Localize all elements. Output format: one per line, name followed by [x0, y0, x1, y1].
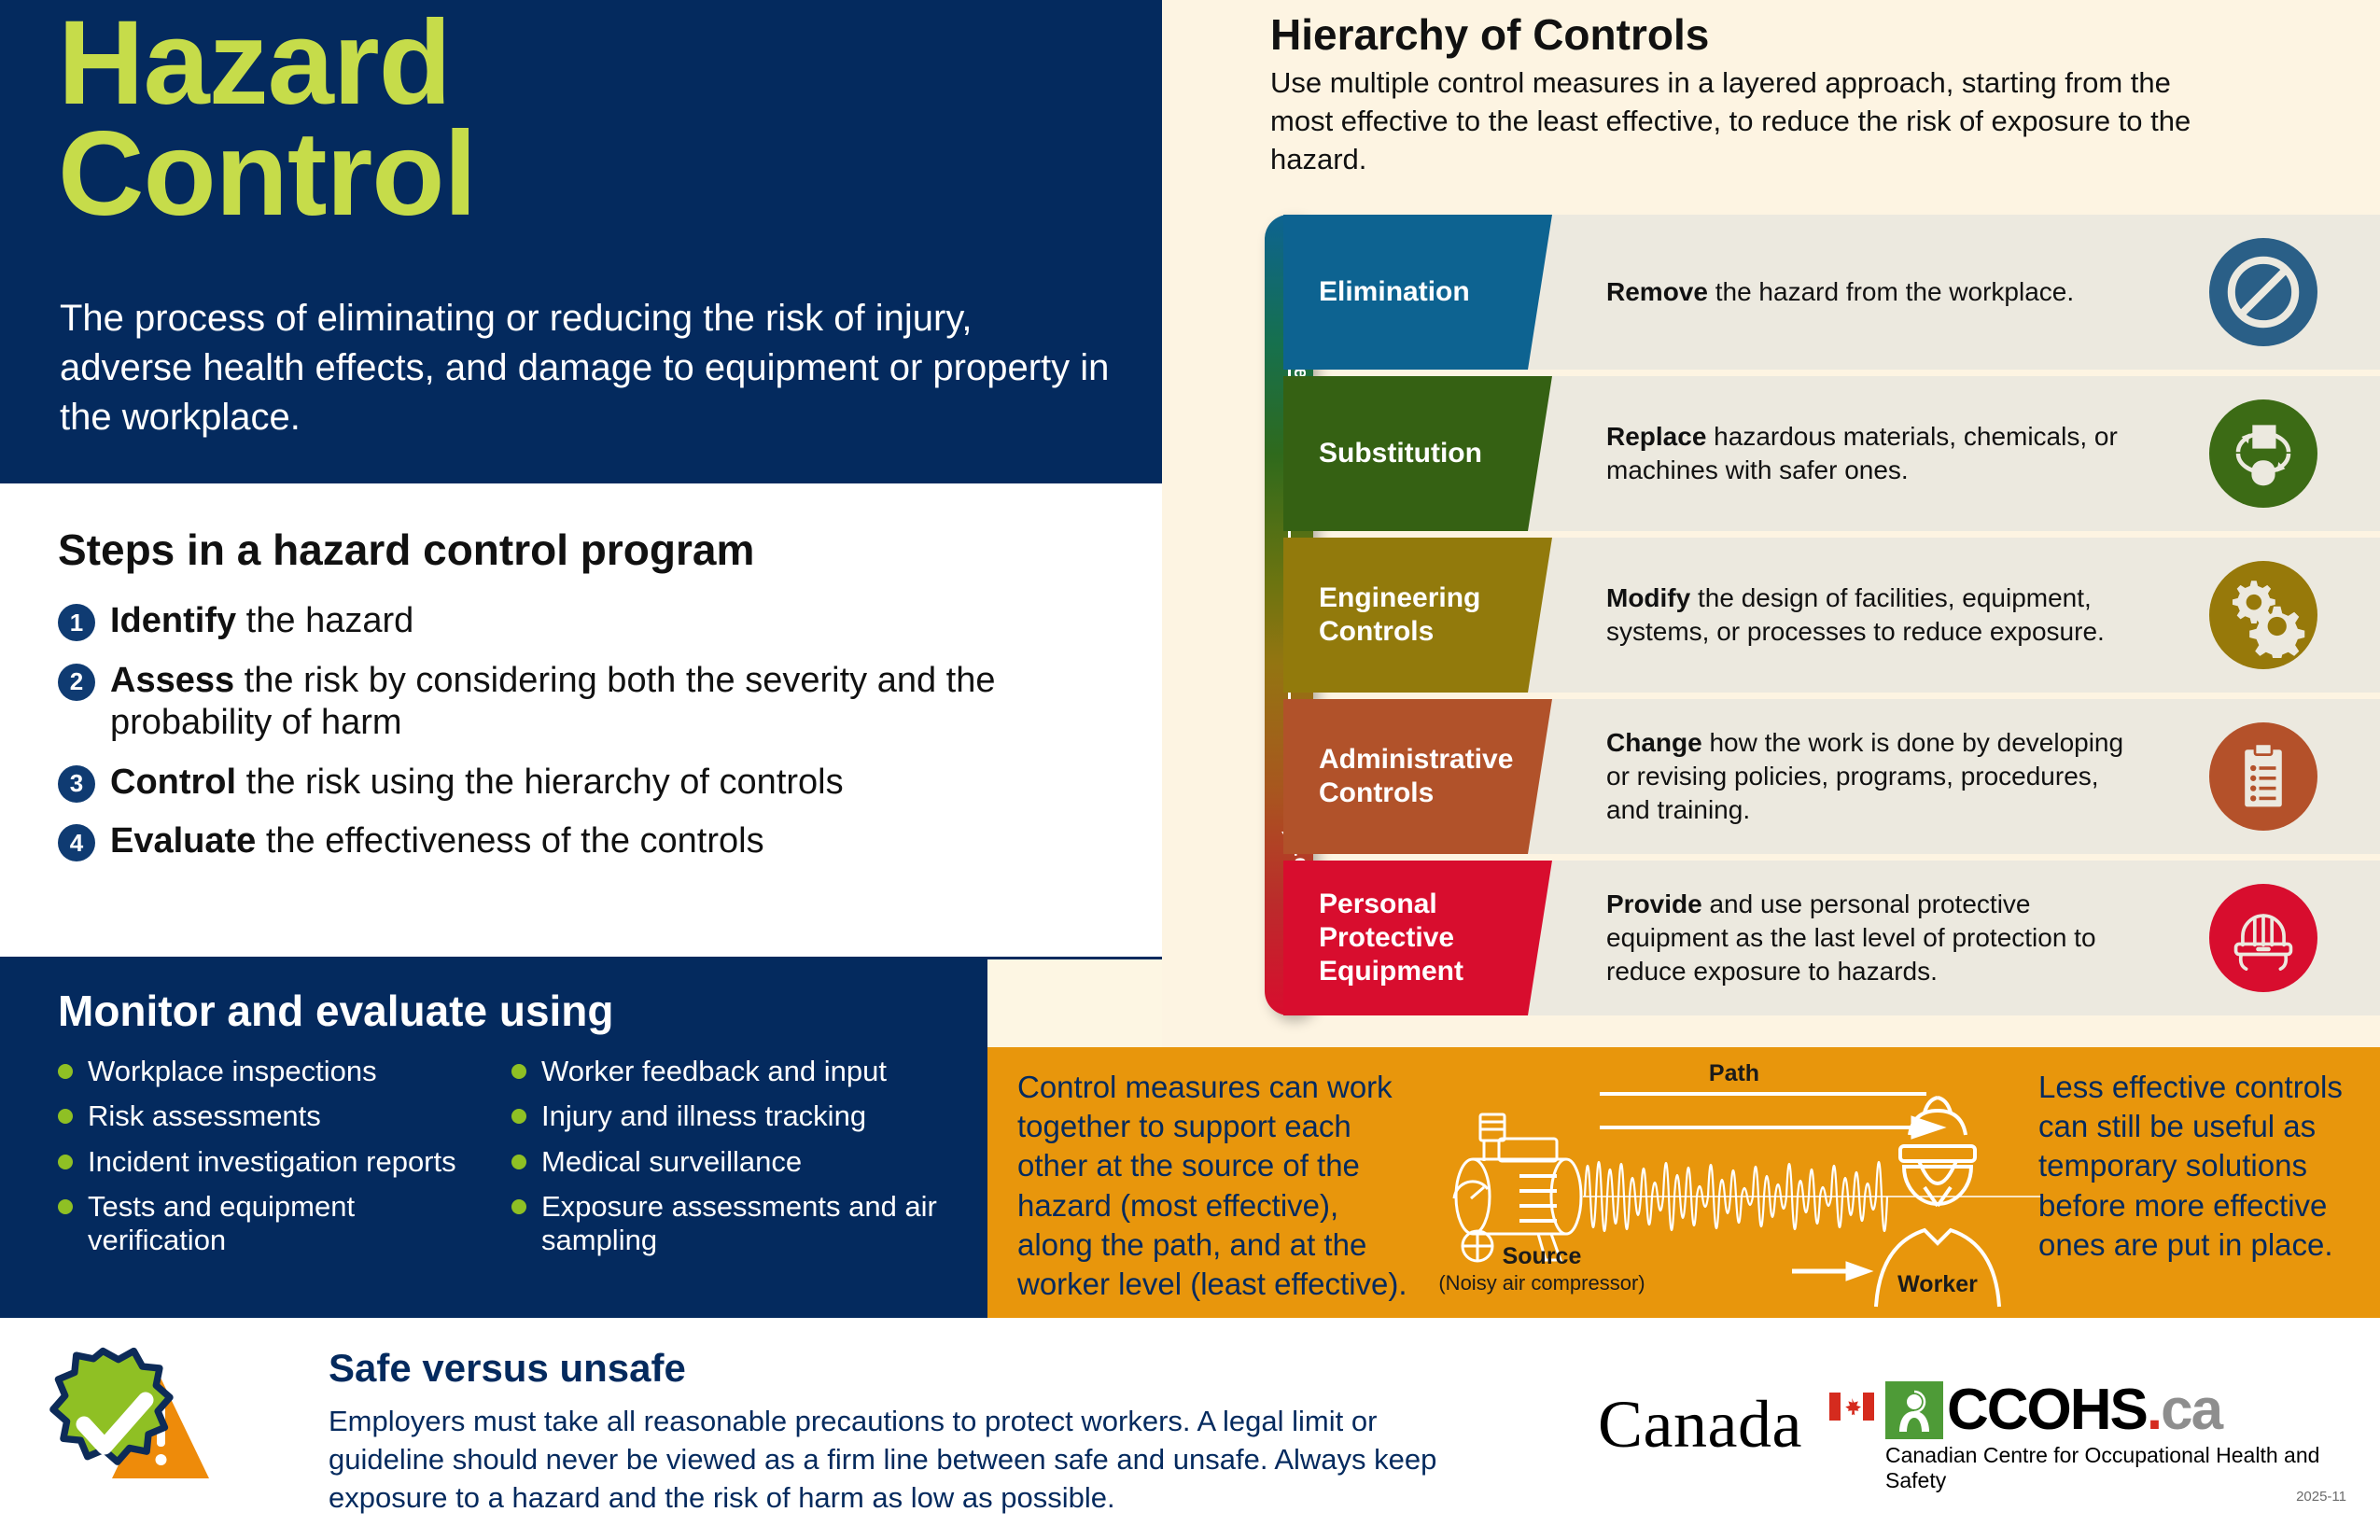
- hierarchy-row-body: Replace hazardous materials, chemicals, …: [1528, 376, 2380, 531]
- desc-rest: the hazard from the workplace.: [1708, 277, 2074, 306]
- step-rest: the risk using the hierarchy of controls: [236, 763, 844, 802]
- svg-text:Source: Source: [1503, 1243, 1582, 1269]
- desc-keyword: Replace: [1606, 422, 1706, 451]
- svg-text:Worker: Worker: [1897, 1271, 1978, 1297]
- hierarchy-rows: Elimination Remove the hazard from the w…: [1283, 215, 2380, 1022]
- step-keyword: Identify: [110, 601, 236, 640]
- step-text: Assess the risk by considering both the …: [110, 660, 1113, 745]
- ccohs-word-text: CCOHS: [1947, 1378, 2147, 1442]
- table-row: Substitution Replace hazardous materials…: [1283, 376, 2380, 531]
- monitor-column-left: Workplace inspections Risk assessments I…: [58, 1055, 487, 1268]
- step-number: 1: [58, 604, 95, 641]
- svg-text:(Noisy air compressor): (Noisy air compressor): [1438, 1271, 1645, 1295]
- step-rest: the hazard: [236, 601, 413, 640]
- ccohs-tagline: Canadian Centre for Occupational Health …: [1885, 1443, 2380, 1493]
- monitor-item-label: Risk assessments: [88, 1099, 321, 1133]
- monitor-heading: Monitor and evaluate using: [58, 986, 614, 1036]
- desc-keyword: Remove: [1606, 277, 1708, 306]
- monitor-item-label: Medical surveillance: [541, 1145, 802, 1179]
- list-item: Risk assessments: [58, 1099, 487, 1133]
- bullet-icon: [511, 1155, 526, 1169]
- list-item: Tests and equipment verification: [58, 1190, 487, 1258]
- hierarchy-description: Provide and use personal protective equi…: [1528, 888, 2147, 987]
- footer-heading: Safe versus unsafe: [329, 1346, 686, 1391]
- hierarchy-heading: Hierarchy of Controls: [1270, 9, 1709, 60]
- list-item: Workplace inspections: [58, 1055, 487, 1088]
- step-text: Control the risk using the hierarchy of …: [110, 762, 844, 805]
- hierarchy-row-body: Change how the work is done by developin…: [1528, 699, 2380, 854]
- hero-panel: Hazard Control The process of eliminatin…: [0, 0, 1162, 481]
- hero-subtitle: The process of eliminating or reducing t…: [60, 294, 1114, 443]
- ccohs-ca-text: ca: [2161, 1378, 2221, 1442]
- ccohs-dot: .: [2147, 1378, 2161, 1442]
- monitor-item-label: Exposure assessments and air sampling: [541, 1190, 941, 1258]
- hierarchy-level-name: Administrative Controls: [1283, 699, 1528, 854]
- svg-text:Path: Path: [1709, 1060, 1759, 1086]
- hierarchy-description: Change how the work is done by developin…: [1528, 726, 2147, 826]
- desc-keyword: Change: [1606, 728, 1702, 757]
- hierarchy-level-name: Elimination: [1283, 215, 1528, 370]
- clipboard-icon: [2209, 722, 2317, 831]
- ccohs-mark-icon: [1885, 1381, 1943, 1439]
- gears-icon: [2209, 561, 2317, 669]
- hierarchy-row-body: Remove the hazard from the workplace.: [1528, 215, 2380, 370]
- hierarchy-level-name: Engineering Controls: [1283, 538, 1528, 693]
- ccohs-logo[interactable]: CCOHS.ca Canadian Centre for Occupationa…: [1885, 1381, 2380, 1493]
- prohibition-icon: [2209, 238, 2317, 346]
- hierarchy-icon-wrap: [2147, 884, 2380, 992]
- list-item: Worker feedback and input: [511, 1055, 941, 1088]
- page-title: Hazard Control: [58, 7, 476, 230]
- orange-text-right: Less effective controls can still be use…: [2038, 1068, 2356, 1265]
- monitor-panel: Monitor and evaluate using Workplace ins…: [0, 959, 987, 1318]
- swap-icon: [2209, 399, 2317, 508]
- hierarchy-row-body: Provide and use personal protective equi…: [1528, 861, 2380, 1015]
- safe-unsafe-icon: [49, 1338, 217, 1506]
- list-item: Exposure assessments and air sampling: [511, 1190, 941, 1258]
- hierarchy-icon-wrap: [2147, 238, 2380, 346]
- date-code: 2025-11: [2296, 1489, 2346, 1505]
- hierarchy-row-body: Modify the design of facilities, equipme…: [1528, 538, 2380, 693]
- ccohs-wordmark: CCOHS.ca: [1947, 1381, 2221, 1439]
- bullet-icon: [58, 1064, 73, 1079]
- canada-flag-icon: [1829, 1393, 1874, 1421]
- title-line-2: Control: [58, 119, 476, 230]
- footer-paragraph: Employers must take all reasonable preca…: [329, 1402, 1467, 1518]
- monitor-item-label: Injury and illness tracking: [541, 1099, 866, 1133]
- desc-keyword: Provide: [1606, 889, 1702, 918]
- orange-band: Control measures can work together to su…: [987, 1047, 2380, 1318]
- step-keyword: Evaluate: [110, 821, 256, 861]
- monitor-item-label: Tests and equipment verification: [88, 1190, 487, 1258]
- monitor-columns: Workplace inspections Risk assessments I…: [58, 1055, 954, 1268]
- step-keyword: Assess: [110, 661, 234, 700]
- steps-list: 1 Identify the hazard 2 Assess the risk …: [58, 600, 1113, 880]
- bullet-icon: [511, 1109, 526, 1124]
- monitor-item-label: Worker feedback and input: [541, 1055, 887, 1088]
- hierarchy-icon-wrap: [2147, 399, 2380, 508]
- bullet-icon: [58, 1155, 73, 1169]
- table-row: Engineering Controls Modify the design o…: [1283, 538, 2380, 693]
- list-item: Medical surveillance: [511, 1145, 941, 1179]
- list-item: Injury and illness tracking: [511, 1099, 941, 1133]
- list-item: 1 Identify the hazard: [58, 600, 1113, 643]
- table-row: Administrative Controls Change how the w…: [1283, 699, 2380, 854]
- bullet-icon: [58, 1109, 73, 1124]
- hardhat-icon: [2209, 884, 2317, 992]
- hierarchy-level-name: Personal Protective Equipment: [1283, 861, 1528, 1015]
- hierarchy-description: Modify the design of facilities, equipme…: [1528, 581, 2147, 649]
- canada-wordmark: Canada: [1598, 1386, 1802, 1463]
- list-item: 2 Assess the risk by considering both th…: [58, 660, 1113, 745]
- hierarchy-description: Remove the hazard from the workplace.: [1528, 275, 2147, 309]
- list-item: 3 Control the risk using the hierarchy o…: [58, 762, 1113, 805]
- table-row: Elimination Remove the hazard from the w…: [1283, 215, 2380, 370]
- hierarchy-icon-wrap: [2147, 561, 2380, 669]
- step-rest: the effectiveness of the controls: [256, 821, 763, 861]
- hierarchy-panel: Hierarchy of Controls Use multiple contr…: [1162, 0, 2380, 1047]
- step-number: 4: [58, 824, 95, 861]
- hierarchy-level-name: Substitution: [1283, 376, 1528, 531]
- step-keyword: Control: [110, 763, 236, 802]
- desc-keyword: Modify: [1606, 583, 1690, 612]
- list-item: 4 Evaluate the effectiveness of the cont…: [58, 820, 1113, 863]
- infographic-page: Hazard Control The process of eliminatin…: [0, 0, 2380, 1540]
- table-row: Personal Protective Equipment Provide an…: [1283, 861, 2380, 1015]
- step-number: 3: [58, 765, 95, 803]
- monitor-item-label: Incident investigation reports: [88, 1145, 456, 1179]
- hierarchy-icon-wrap: [2147, 722, 2380, 831]
- hierarchy-intro: Use multiple control measures in a layer…: [1270, 63, 2213, 179]
- monitor-item-label: Workplace inspections: [88, 1055, 377, 1088]
- step-rest: the risk by considering both the severit…: [110, 661, 995, 743]
- step-text: Evaluate the effectiveness of the contro…: [110, 820, 764, 863]
- source-path-worker-diagram: Source (Noisy air compressor) Path Worke…: [1426, 1057, 2042, 1309]
- monitor-column-right: Worker feedback and input Injury and ill…: [511, 1055, 941, 1268]
- bullet-icon: [511, 1064, 526, 1079]
- step-number: 2: [58, 664, 95, 701]
- step-text: Identify the hazard: [110, 600, 413, 643]
- steps-card: Steps in a hazard control program 1 Iden…: [0, 481, 1187, 959]
- bullet-icon: [511, 1199, 526, 1214]
- steps-heading: Steps in a hazard control program: [58, 525, 754, 575]
- list-item: Incident investigation reports: [58, 1145, 487, 1179]
- title-line-1: Hazard: [58, 7, 476, 119]
- orange-text-left: Control measures can work together to su…: [1017, 1068, 1419, 1304]
- hierarchy-description: Replace hazardous materials, chemicals, …: [1528, 420, 2147, 487]
- bullet-icon: [58, 1199, 73, 1214]
